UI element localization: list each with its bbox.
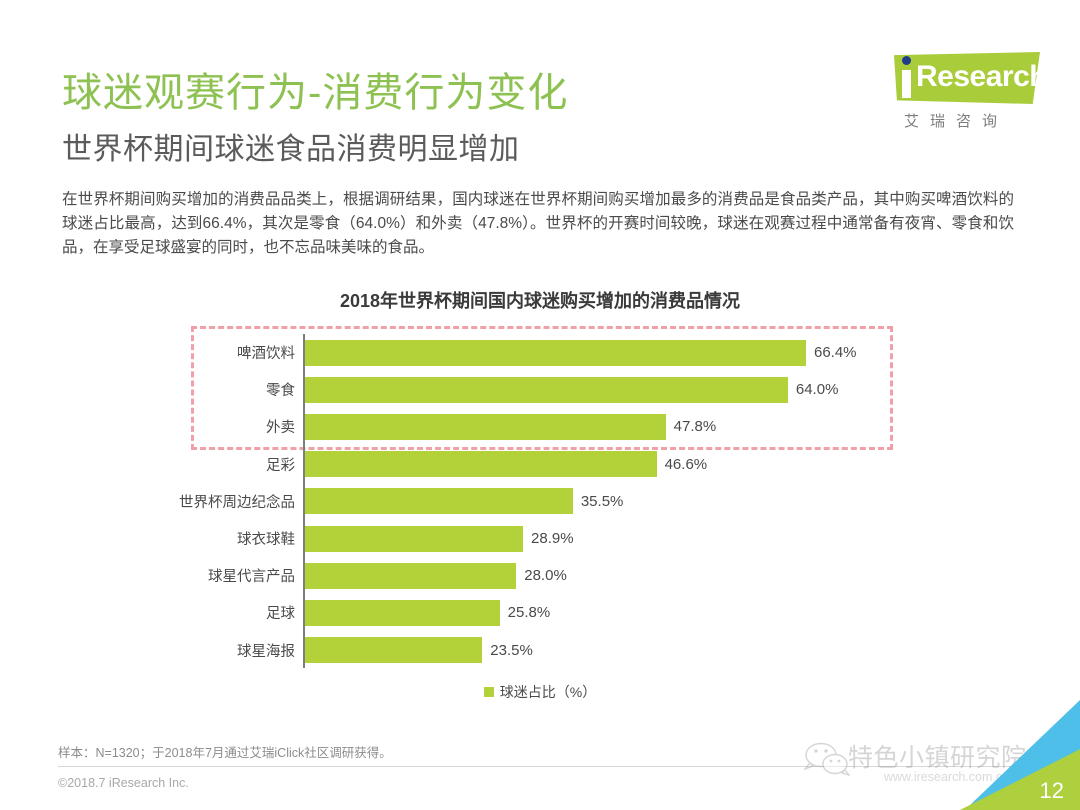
page-subtitle: 世界杯期间球迷食品消费明显增加 [62, 124, 520, 168]
watermark-url: www.iresearch.com.cn [884, 770, 1009, 784]
logo-wordmark: Research [916, 60, 1047, 94]
iresearch-logo: Research 艾瑞咨询 [862, 46, 1052, 146]
bar-fill [305, 600, 500, 626]
chart-title: 2018年世界杯期间国内球迷购买增加的消费品情况 [0, 287, 1080, 313]
sample-footnote: 样本：N=1320；于2018年7月通过艾瑞iClick社区调研获得。 [58, 742, 392, 761]
bar-fill [305, 414, 666, 440]
bar-category-label: 零食 [150, 379, 295, 400]
bar-fill [305, 526, 523, 552]
logo-i-stem [902, 70, 911, 98]
logo-i-dot-icon [902, 56, 911, 65]
bar-category-label: 外卖 [150, 416, 295, 437]
bar-value-label: 47.8% [674, 418, 717, 435]
bar-value-label: 66.4% [814, 344, 857, 361]
wechat-icon [804, 742, 850, 776]
bar-fill [305, 340, 806, 366]
bar-row: 球衣球鞋28.9% [0, 520, 1080, 557]
bar-fill [305, 637, 482, 663]
legend-swatch-icon [484, 687, 494, 697]
bar-row: 球星海报23.5% [0, 632, 1080, 669]
bar-value-label: 46.6% [665, 456, 708, 473]
bar-category-label: 足彩 [150, 454, 295, 475]
page-number: 12 [1040, 778, 1064, 804]
bar-row: 足彩46.6% [0, 446, 1080, 483]
bar-chart: 啤酒饮料66.4%零食64.0%外卖47.8%足彩46.6%世界杯周边纪念品35… [0, 322, 1080, 682]
page-title: 球迷观赛行为-消费行为变化 [62, 60, 568, 118]
bar-value-label: 28.9% [531, 530, 574, 547]
bar-category-label: 球衣球鞋 [150, 528, 295, 549]
copyright-text: ©2018.7 iResearch Inc. [58, 776, 189, 790]
legend-label: 球迷占比（%） [500, 682, 596, 702]
bar-fill [305, 451, 657, 477]
logo-wordmark-cn: 艾瑞咨询 [904, 110, 1008, 131]
bar-fill [305, 488, 573, 514]
body-paragraph: 在世界杯期间购买增加的消费品品类上，根据调研结果，国内球迷在世界杯期间购买增加最… [62, 188, 1014, 260]
bar-category-label: 球星代言产品 [150, 565, 295, 586]
bar-category-label: 啤酒饮料 [150, 342, 295, 363]
watermark-text: 特色小镇研究院 [848, 738, 1027, 774]
bar-row: 足球25.8% [0, 594, 1080, 631]
bar-row: 啤酒饮料66.4% [0, 334, 1080, 371]
bar-row: 零食64.0% [0, 371, 1080, 408]
bar-row: 外卖47.8% [0, 408, 1080, 445]
chart-legend: 球迷占比（%） [0, 682, 1080, 702]
bar-value-label: 28.0% [524, 567, 567, 584]
bar-row: 世界杯周边纪念品35.5% [0, 483, 1080, 520]
bar-value-label: 25.8% [508, 604, 551, 621]
bar-row: 球星代言产品28.0% [0, 557, 1080, 594]
bar-value-label: 64.0% [796, 381, 839, 398]
bar-fill [305, 563, 516, 589]
bar-value-label: 23.5% [490, 642, 533, 659]
bar-value-label: 35.5% [581, 493, 624, 510]
bar-category-label: 足球 [150, 602, 295, 623]
bar-category-label: 世界杯周边纪念品 [150, 491, 295, 512]
bar-category-label: 球星海报 [150, 640, 295, 661]
bar-fill [305, 377, 788, 403]
